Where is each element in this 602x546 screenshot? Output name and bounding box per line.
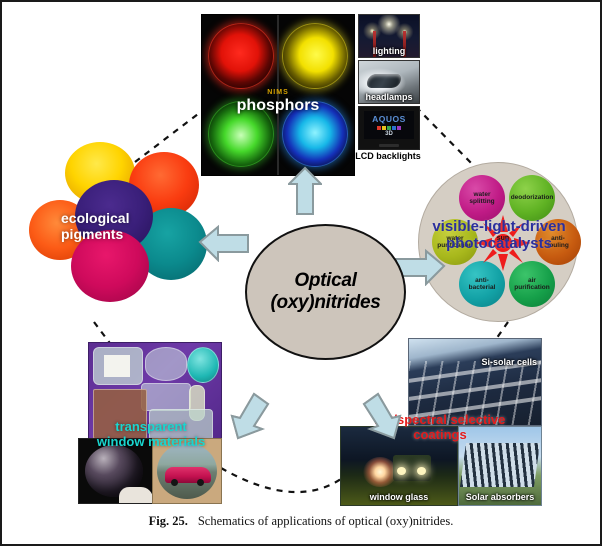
window-glass-caption: window glass xyxy=(341,492,457,502)
center-hub-line2: (oxy)nitrides xyxy=(270,292,380,314)
glassware-plate xyxy=(141,383,191,411)
sun-glare xyxy=(363,457,397,487)
window-label-line1: transparent xyxy=(76,420,226,435)
center-hub: Optical (oxy)nitrides xyxy=(245,224,406,360)
connector-lcd-to-photocatalysts xyxy=(416,107,478,170)
pigments-label-line2: pigments xyxy=(61,226,181,242)
glove-shape xyxy=(119,487,153,504)
water-splitting-line2: splitting xyxy=(469,198,494,205)
yellow-phosphor-dish xyxy=(282,23,348,89)
window-label-line2: window materials xyxy=(76,435,226,450)
anti-bacterial-line2: bacterial xyxy=(469,284,496,291)
vehicle-shape xyxy=(393,455,431,481)
tv-3d-badge: 3D xyxy=(385,131,393,137)
glassware-paper xyxy=(104,355,130,377)
tv-image: AQUOS 3D xyxy=(358,106,420,150)
arrow-down-left-to-window xyxy=(228,392,274,440)
tv-color-swatches xyxy=(377,126,402,130)
headlamp-shape xyxy=(367,74,401,88)
headlamps-image: headlamps xyxy=(358,60,420,104)
glassware-dish xyxy=(145,347,187,381)
figure-frame: Optical (oxy)nitrides NIMS pho xyxy=(0,0,602,546)
window-materials-panel: transparent window materials xyxy=(78,342,220,502)
red-car-shape xyxy=(165,467,211,483)
arrow-down-right-to-coatings xyxy=(358,392,404,440)
ecological-pigments-panel: ecological pigments xyxy=(27,138,207,318)
glassware-teal-jar xyxy=(187,347,219,383)
lens-shape xyxy=(157,443,217,499)
water-splitting-line1: water xyxy=(474,191,491,198)
figure-number: Fig. 25. xyxy=(149,514,188,528)
center-hub-line1: Optical xyxy=(294,270,356,292)
tv-screen: AQUOS 3D xyxy=(364,111,414,139)
tv-stand xyxy=(379,144,399,147)
phosphors-panel: NIMS phosphors xyxy=(201,14,355,176)
phosphors-label: phosphors xyxy=(202,97,354,115)
photocatalysts-label-line1: visible-light-driven xyxy=(403,219,595,236)
red-phosphor-dish xyxy=(208,23,274,89)
arrow-up-to-phosphors xyxy=(288,166,322,216)
lighting-stack: lighting headlamps AQUOS 3D LCD backligh… xyxy=(358,14,418,162)
arrow-left-to-pigments xyxy=(198,224,250,262)
air-purification-line1: air xyxy=(528,277,536,284)
lighting-caption: lighting xyxy=(359,46,419,56)
pigments-label-line1: ecological xyxy=(61,210,181,226)
photocatalysts-panel: sun water splitting deodorization water … xyxy=(418,162,578,322)
lighting-image: lighting xyxy=(358,14,420,58)
window-materials-label: transparent window materials xyxy=(76,420,226,450)
ecological-pigments-label: ecological pigments xyxy=(61,210,181,242)
glassware-tray xyxy=(93,347,143,385)
connector-window-to-coatings xyxy=(221,468,350,492)
absorber-tubes xyxy=(460,443,540,487)
solar-absorbers-caption: Solar absorbers xyxy=(459,492,541,502)
lcd-backlights-caption: LCD backlights xyxy=(352,152,424,162)
anti-bacterial-line1: anti- xyxy=(475,277,489,284)
headlamps-caption: headlamps xyxy=(359,92,419,102)
nims-watermark: NIMS xyxy=(202,89,354,96)
deodorization-line1: deodorization xyxy=(511,194,554,201)
si-solar-cells-caption: Si-solar cells xyxy=(481,357,537,367)
figure-caption: Fig. 25.Schematics of applications of op… xyxy=(2,514,600,529)
air-purification-line2: purification xyxy=(514,284,549,291)
tv-brand-label: AQUOS xyxy=(372,114,406,124)
figure-caption-text: Schematics of applications of optical (o… xyxy=(198,514,454,528)
